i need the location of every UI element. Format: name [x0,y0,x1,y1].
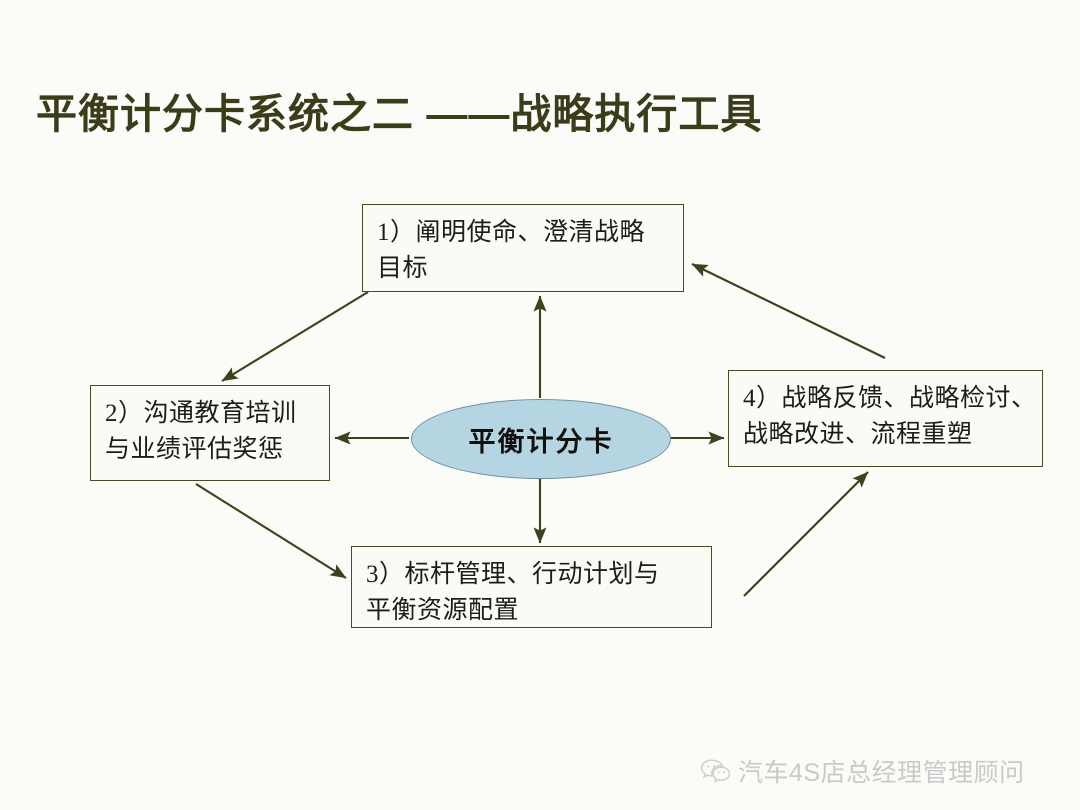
node-4-line-2: 战略改进、流程重塑 [743,417,1030,453]
slide-canvas: 平衡计分卡系统之二 ——战略执行工具 [0,0,1080,810]
diagram-node-2[interactable]: 2）沟通教育培训 与业绩评估奖惩 [90,385,330,481]
diagram-node-4[interactable]: 4）战略反馈、战略检讨、 战略改进、流程重塑 [728,370,1043,467]
watermark-text: 汽车4S店总经理管理顾问 [738,753,1025,789]
node-2-line-2: 与业绩评估奖惩 [105,432,317,468]
connector-node2-to-node3 [196,484,346,578]
node-1-line-2: 目标 [377,251,671,287]
node-2-line-1: 2）沟通教育培训 [105,396,317,432]
node-3-line-1: 3）标杆管理、行动计划与 [366,557,699,593]
wechat-icon [700,758,730,784]
diagram-node-1[interactable]: 1）阐明使命、澄清战略 目标 [362,204,684,292]
connector-node1-to-node2 [222,292,368,381]
diagram-node-3[interactable]: 3）标杆管理、行动计划与 平衡资源配置 [351,546,712,628]
balanced-scorecard-diagram: 1）阐明使命、澄清战略 目标 2）沟通教育培训 与业绩评估奖惩 3）标杆管理、行… [0,0,1080,810]
diagram-center-node[interactable]: 平衡计分卡 [411,399,671,479]
node-4-line-1: 4）战略反馈、战略检讨、 [743,381,1030,417]
node-3-line-2: 平衡资源配置 [366,593,699,629]
center-node-label: 平衡计分卡 [469,420,614,459]
connector-node4-to-node1 [692,264,885,358]
node-1-line-1: 1）阐明使命、澄清战略 [377,215,671,251]
watermark: 汽车4S店总经理管理顾问 [700,753,1025,789]
connector-node3-to-node4 [744,472,868,596]
